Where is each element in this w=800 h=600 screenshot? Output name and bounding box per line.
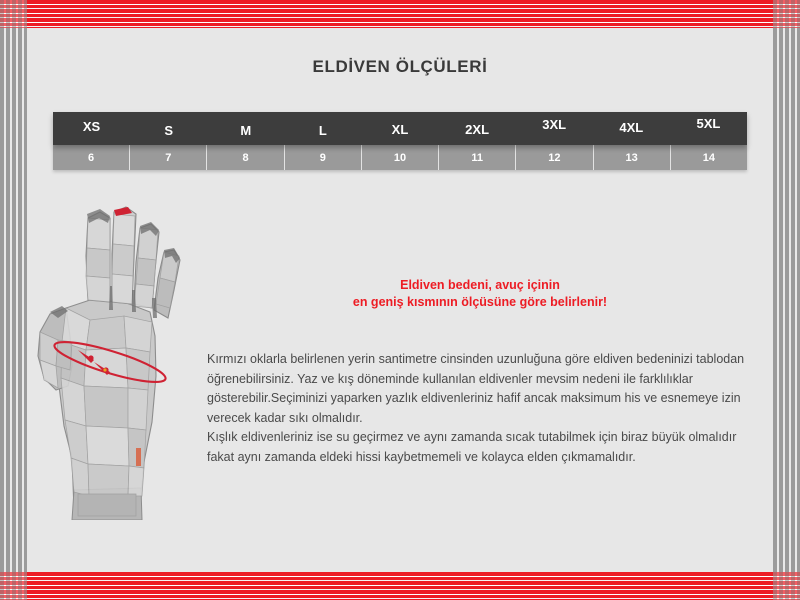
corner-top-left (0, 0, 27, 28)
size-value-cell-s: 7 (130, 145, 207, 170)
size-header-cell-s: S (130, 112, 207, 145)
body-paragraph-2: Kışlık eldivenleriniz ise su geçirmez ve… (207, 428, 752, 467)
corner-top-right (773, 0, 800, 28)
size-table-header-row: XS S M L XL 2XL 3XL 4XL 5XL (53, 112, 747, 145)
size-label-l: L (284, 123, 361, 138)
size-label-xl: XL (361, 122, 438, 137)
size-table-value-row: 6 7 8 9 10 11 12 13 14 (53, 145, 747, 170)
size-value-cell-l: 9 (285, 145, 362, 170)
size-value-cell-m: 8 (207, 145, 284, 170)
corner-bottom-right (773, 572, 800, 600)
size-header-cell-m: M (207, 112, 284, 145)
hand-illustration (28, 190, 218, 520)
size-value-cell-3xl: 12 (516, 145, 593, 170)
size-header-cell-3xl: 3XL (516, 112, 593, 145)
hand-facets (40, 214, 179, 516)
size-label-4xl: 4XL (593, 120, 670, 135)
page-title: ELDİVEN ÖLÇÜLERİ (0, 57, 800, 77)
size-header-cell-2xl: 2XL (439, 112, 516, 145)
measurement-callout: Eldiven bedeni, avuç içinin en geniş kıs… (200, 277, 760, 311)
size-value-cell-xs: 6 (53, 145, 130, 170)
size-header-cell-xl: XL (361, 112, 438, 145)
size-label-5xl: 5XL (670, 116, 747, 131)
callout-line-2: en geniş kısmının ölçüsüne göre belirlen… (200, 294, 760, 311)
size-value-cell-2xl: 11 (439, 145, 516, 170)
top-red-stripe-border (0, 0, 800, 28)
size-header-cell-xs: XS (53, 112, 130, 145)
callout-line-1: Eldiven bedeni, avuç içinin (200, 277, 760, 294)
size-value-cell-xl: 10 (362, 145, 439, 170)
body-copy: Kırmızı oklarla belirlenen yerin santime… (207, 350, 752, 467)
left-gray-stripe-border (0, 0, 27, 600)
size-header-cell-l: L (284, 112, 361, 145)
body-paragraph-1: Kırmızı oklarla belirlenen yerin santime… (207, 350, 752, 428)
size-label-m: M (207, 123, 284, 138)
size-label-xs: XS (53, 119, 130, 134)
bottom-red-stripe-border (0, 572, 800, 600)
size-header-cell-5xl: 5XL (670, 112, 747, 145)
size-value-cell-4xl: 13 (594, 145, 671, 170)
size-label-3xl: 3XL (516, 117, 593, 132)
size-label-s: S (130, 123, 207, 138)
size-table: XS S M L XL 2XL 3XL 4XL 5XL 6 7 8 9 10 1… (53, 112, 747, 170)
corner-bottom-left (0, 572, 27, 600)
right-gray-stripe-border (773, 0, 800, 600)
size-header-cell-4xl: 4XL (593, 112, 670, 145)
size-value-cell-5xl: 14 (671, 145, 747, 170)
wrist-red-marker (136, 448, 141, 466)
size-chart-page: ELDİVEN ÖLÇÜLERİ XS S M L XL 2XL 3XL 4XL… (0, 0, 800, 600)
size-label-2xl: 2XL (439, 122, 516, 137)
